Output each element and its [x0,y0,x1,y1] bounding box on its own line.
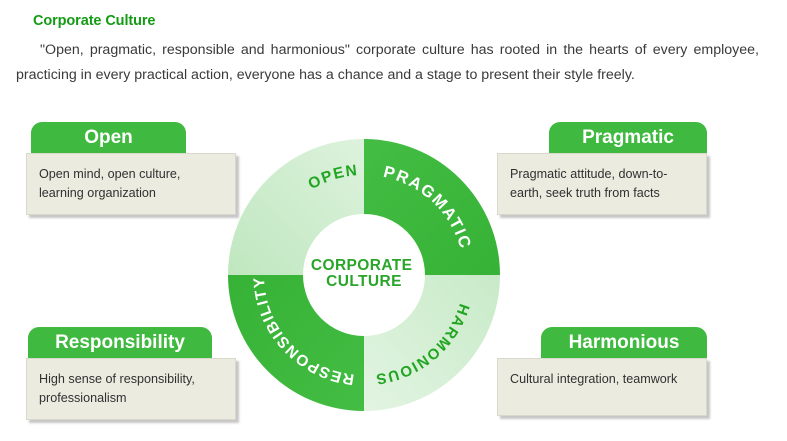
card-open-body: Open mind, open culture, learning organi… [26,153,236,215]
card-harmonious-title: Harmonious [541,327,707,358]
donut-center-label-line1: CORPORATE [311,257,412,274]
culture-card-harmonious[interactable]: Harmonious Cultural integration, teamwor… [497,327,707,416]
card-responsibility-body: High sense of responsibility, profession… [26,358,236,420]
culture-card-responsibility[interactable]: Responsibility High sense of responsibil… [26,327,236,420]
card-open-title: Open [31,122,186,153]
card-pragmatic-title: Pragmatic [549,122,707,153]
card-pragmatic-body: Pragmatic attitude, down-to-earth, seek … [497,153,707,215]
page-title: Corporate Culture [0,0,787,29]
donut-center-label: CORPORATE CULTURE [311,257,417,290]
donut-center-label-line2: CULTURE [326,273,402,290]
intro-text-block: Corporate Culture "Open, pragmatic, resp… [0,0,787,88]
card-responsibility-title: Responsibility [28,327,212,358]
culture-card-pragmatic[interactable]: Pragmatic Pragmatic attitude, down-to-ea… [497,122,707,215]
card-harmonious-body: Cultural integration, teamwork [497,358,707,416]
intro-paragraph: "Open, pragmatic, responsible and harmon… [0,29,787,88]
corporate-culture-donut-chart: OPEN PRAGMATIC HARMONIOUS RESPONSIBILITY… [228,139,500,411]
culture-card-open[interactable]: Open Open mind, open culture, learning o… [26,122,236,215]
